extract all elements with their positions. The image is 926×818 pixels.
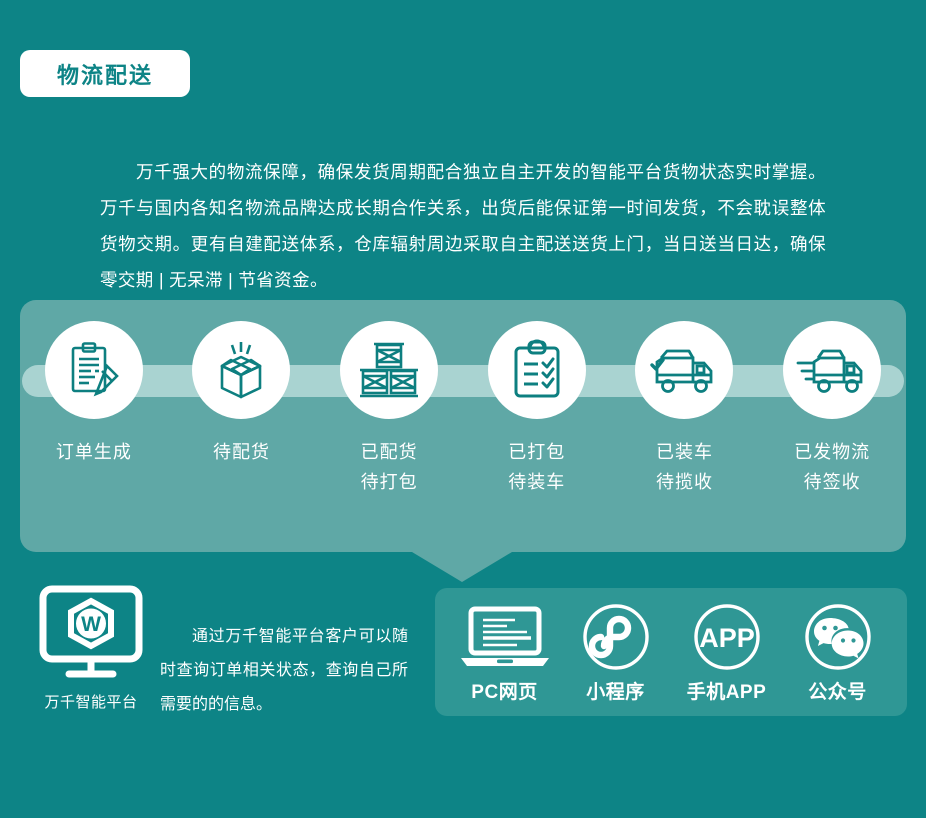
step-label: 已打包 待装车	[508, 437, 565, 497]
step-item[interactable]: 已打包 待装车	[467, 321, 607, 497]
step-item[interactable]: 已配货 待打包	[319, 321, 459, 497]
step-label: 已配货 待打包	[361, 437, 418, 497]
channel-label: PC网页	[471, 677, 537, 704]
step-icon-circle	[340, 321, 438, 419]
step-icon-circle	[635, 321, 733, 419]
step-label: 已发物流 待签收	[794, 437, 870, 497]
logistics-steps-card: 订单生成 待配货	[20, 300, 906, 552]
wechat-bubbles-icon	[803, 602, 873, 672]
step-icon-circle	[488, 321, 586, 419]
step-icon-circle	[45, 321, 143, 419]
channel-item-app[interactable]: APP 手机APP	[675, 601, 779, 704]
channel-icon-wrap	[581, 601, 651, 673]
step-label: 已装车 待揽收	[656, 437, 713, 497]
step-label: 订单生成	[56, 437, 132, 467]
step-label: 待配货	[213, 437, 270, 467]
platform-caption: 万千智能平台	[44, 691, 137, 712]
channels-panel: PC网页 小程序 APP 手机APP	[435, 588, 907, 716]
channel-label: 小程序	[586, 677, 645, 704]
channel-icon-wrap	[457, 601, 553, 673]
section-badge-label: 物流配送	[57, 58, 153, 90]
step-item[interactable]: 订单生成	[24, 321, 164, 467]
open-box-icon	[209, 338, 273, 402]
monitor-logo-icon: W	[39, 585, 143, 681]
channel-item-official-account[interactable]: 公众号	[786, 601, 890, 704]
app-glyph: APP	[699, 623, 755, 653]
section-badge: 物流配送	[20, 50, 190, 97]
channel-label: 公众号	[808, 677, 867, 704]
step-item[interactable]: 已发物流 待签收	[762, 321, 902, 497]
card-pointer-notch	[412, 552, 512, 582]
checklist-clipboard-icon	[508, 338, 566, 402]
step-icon-circle	[192, 321, 290, 419]
channel-icon-wrap	[803, 601, 873, 673]
platform-block: W 万千智能平台	[36, 585, 146, 712]
truck-moving-icon	[796, 342, 868, 398]
steps-row: 订单生成 待配货	[20, 300, 906, 552]
laptop-icon	[457, 603, 553, 671]
platform-logo-letter: W	[81, 613, 101, 636]
intro-paragraph: 万千强大的物流保障，确保发货周期配合独立自主开发的智能平台货物状态实时掌握。万千…	[100, 154, 826, 298]
clipboard-pencil-icon	[63, 339, 125, 401]
app-circle-icon: APP	[692, 602, 762, 672]
miniprogram-icon	[581, 602, 651, 672]
channel-item-miniprogram[interactable]: 小程序	[564, 601, 668, 704]
truck-check-icon	[649, 342, 719, 398]
platform-description: 通过万千智能平台客户可以随时查询订单相关状态，查询自己所需要的的信息。	[160, 620, 408, 722]
step-icon-circle	[783, 321, 881, 419]
step-item[interactable]: 待配货	[171, 321, 311, 467]
crates-icon	[356, 339, 422, 401]
step-item[interactable]: 已装车 待揽收	[614, 321, 754, 497]
channel-label: 手机APP	[687, 677, 767, 704]
channel-icon-wrap: APP	[692, 601, 762, 673]
channel-item-pc[interactable]: PC网页	[453, 601, 557, 704]
